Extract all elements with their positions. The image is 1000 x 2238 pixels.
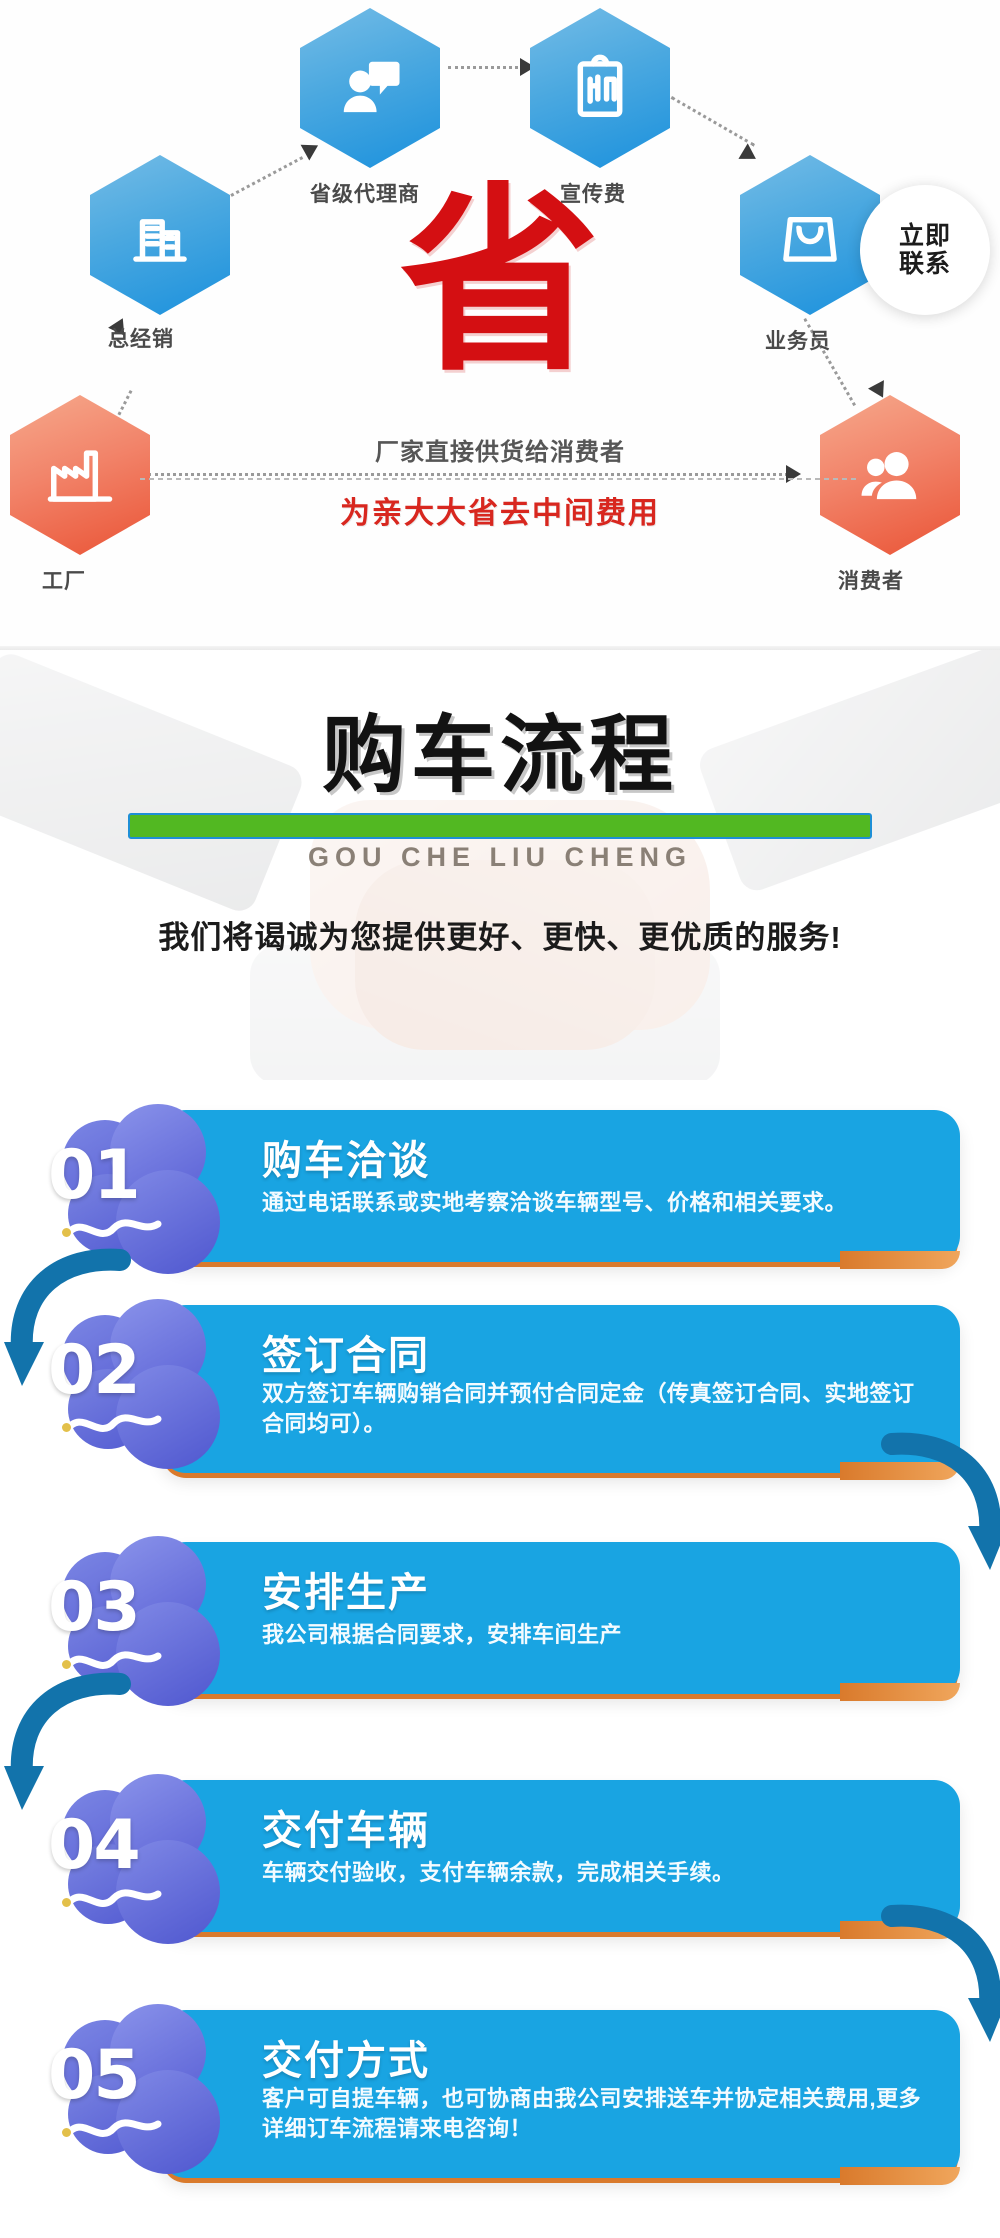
users-icon	[820, 395, 960, 555]
section-title: 购车流程	[0, 713, 1000, 797]
step-description: 车辆交付验收，支付车辆余款，完成相关手续。	[262, 1858, 922, 1888]
flow-arrow-4	[880, 1902, 1000, 2052]
node-salesperson-label: 业务员	[765, 325, 831, 355]
node-promotion-fee[interactable]	[530, 8, 670, 168]
clipboard-approval-icon	[530, 8, 670, 168]
red-slogan: 为亲大大省去中间费用	[200, 488, 800, 532]
step-number: 03	[48, 1568, 198, 1647]
flow-arrow-1	[2, 1246, 132, 1396]
process-step-03[interactable]: 03 安排生产 我公司根据合同要求，安排车间生产	[0, 1530, 1000, 1705]
step-number: 05	[48, 2036, 198, 2115]
step-title: 交付方式	[262, 2028, 430, 2086]
title-underline-bar	[128, 813, 872, 839]
flow-arrow-3	[2, 1670, 132, 1820]
purchase-process-section: 购车流程 GOU CHE LIU CHENG 我们将谒诚为您提供更好、更快、更优…	[0, 650, 1000, 2238]
step-title: 交付车辆	[262, 1798, 430, 1856]
squiggle-icon	[58, 1210, 168, 1250]
step-title: 安排生产	[262, 1560, 430, 1618]
connector-agent-to-promo	[448, 66, 524, 69]
squiggle-dot-icon	[62, 1423, 71, 1432]
squiggle-icon	[58, 1880, 168, 1920]
connector-factory-to-consumer-direct	[148, 473, 788, 476]
step-title: 购车洽谈	[262, 1128, 430, 1186]
factory-direct-subtitle: 厂家直接供货给消费者	[240, 432, 760, 467]
node-agent[interactable]	[300, 8, 440, 168]
step-description: 通过电话联系或实地考察洽谈车辆型号、价格和相关要求。	[262, 1188, 922, 1218]
connector-promo-to-sales	[671, 96, 756, 147]
node-dealer[interactable]	[90, 155, 230, 315]
node-salesperson[interactable]	[740, 155, 880, 315]
process-step-01[interactable]: 01 购车洽谈 通过电话联系或实地考察洽谈车辆型号、价格和相关要求。	[0, 1098, 1000, 1273]
contact-now-badge-top[interactable]: 立即 联系	[860, 185, 990, 315]
step-number: 01	[48, 1136, 198, 1215]
process-step-05[interactable]: 05 交付方式 客户可自提车辆，也可协商由我公司安排送车并协定相关费用,更多详细…	[0, 1998, 1000, 2173]
step-description: 双方签订车辆购销合同并预付合同定金（传真签订合同、实地签订合同均可）。	[262, 1379, 922, 1440]
process-step-02[interactable]: 02 签订合同 双方签订车辆购销合同并预付合同定金（传真签订合同、实地签订合同均…	[0, 1293, 1000, 1468]
flow-arrow-2	[880, 1430, 1000, 1580]
office-building-icon	[90, 155, 230, 315]
big-save-character: 省	[385, 185, 615, 385]
node-consumer[interactable]	[820, 395, 960, 555]
section-title-pinyin: GOU CHE LIU CHENG	[0, 842, 1000, 873]
squiggle-icon	[58, 2110, 168, 2150]
node-factory-label: 工厂	[42, 565, 86, 595]
step-description: 客户可自提车辆，也可协商由我公司安排送车并协定相关费用,更多详细订车流程请来电咨…	[262, 2084, 922, 2145]
section-subtitle: 我们将谒诚为您提供更好、更快、更优质的服务!	[0, 912, 1000, 957]
factory-icon	[10, 395, 150, 555]
shopping-bag-icon	[740, 155, 880, 315]
infographic-page: 总经销 省级代理商 宣传费	[0, 0, 1000, 2238]
node-consumer-label: 消费者	[838, 565, 904, 595]
contact-badge-line1: 立即	[899, 222, 951, 251]
arrowhead-direct-to-consumer	[786, 465, 801, 483]
process-step-04[interactable]: 04 交付车辆 车辆交付验收，支付车辆余款，完成相关手续。	[0, 1768, 1000, 1943]
squiggle-icon	[58, 1405, 168, 1445]
distribution-channel-diagram: 总经销 省级代理商 宣传费	[0, 0, 1000, 650]
squiggle-dot-icon	[62, 1228, 71, 1237]
contact-badge-line2: 联系	[899, 250, 951, 279]
node-dealer-label: 总经销	[108, 323, 174, 353]
squiggle-dot-icon	[62, 1660, 71, 1669]
dotted-divider	[140, 478, 860, 480]
squiggle-dot-icon	[62, 1898, 71, 1907]
node-factory[interactable]	[10, 395, 150, 555]
step-description: 我公司根据合同要求，安排车间生产	[262, 1620, 922, 1650]
squiggle-dot-icon	[62, 2128, 71, 2137]
step-title: 签订合同	[262, 1323, 430, 1381]
agent-chat-icon	[300, 8, 440, 168]
